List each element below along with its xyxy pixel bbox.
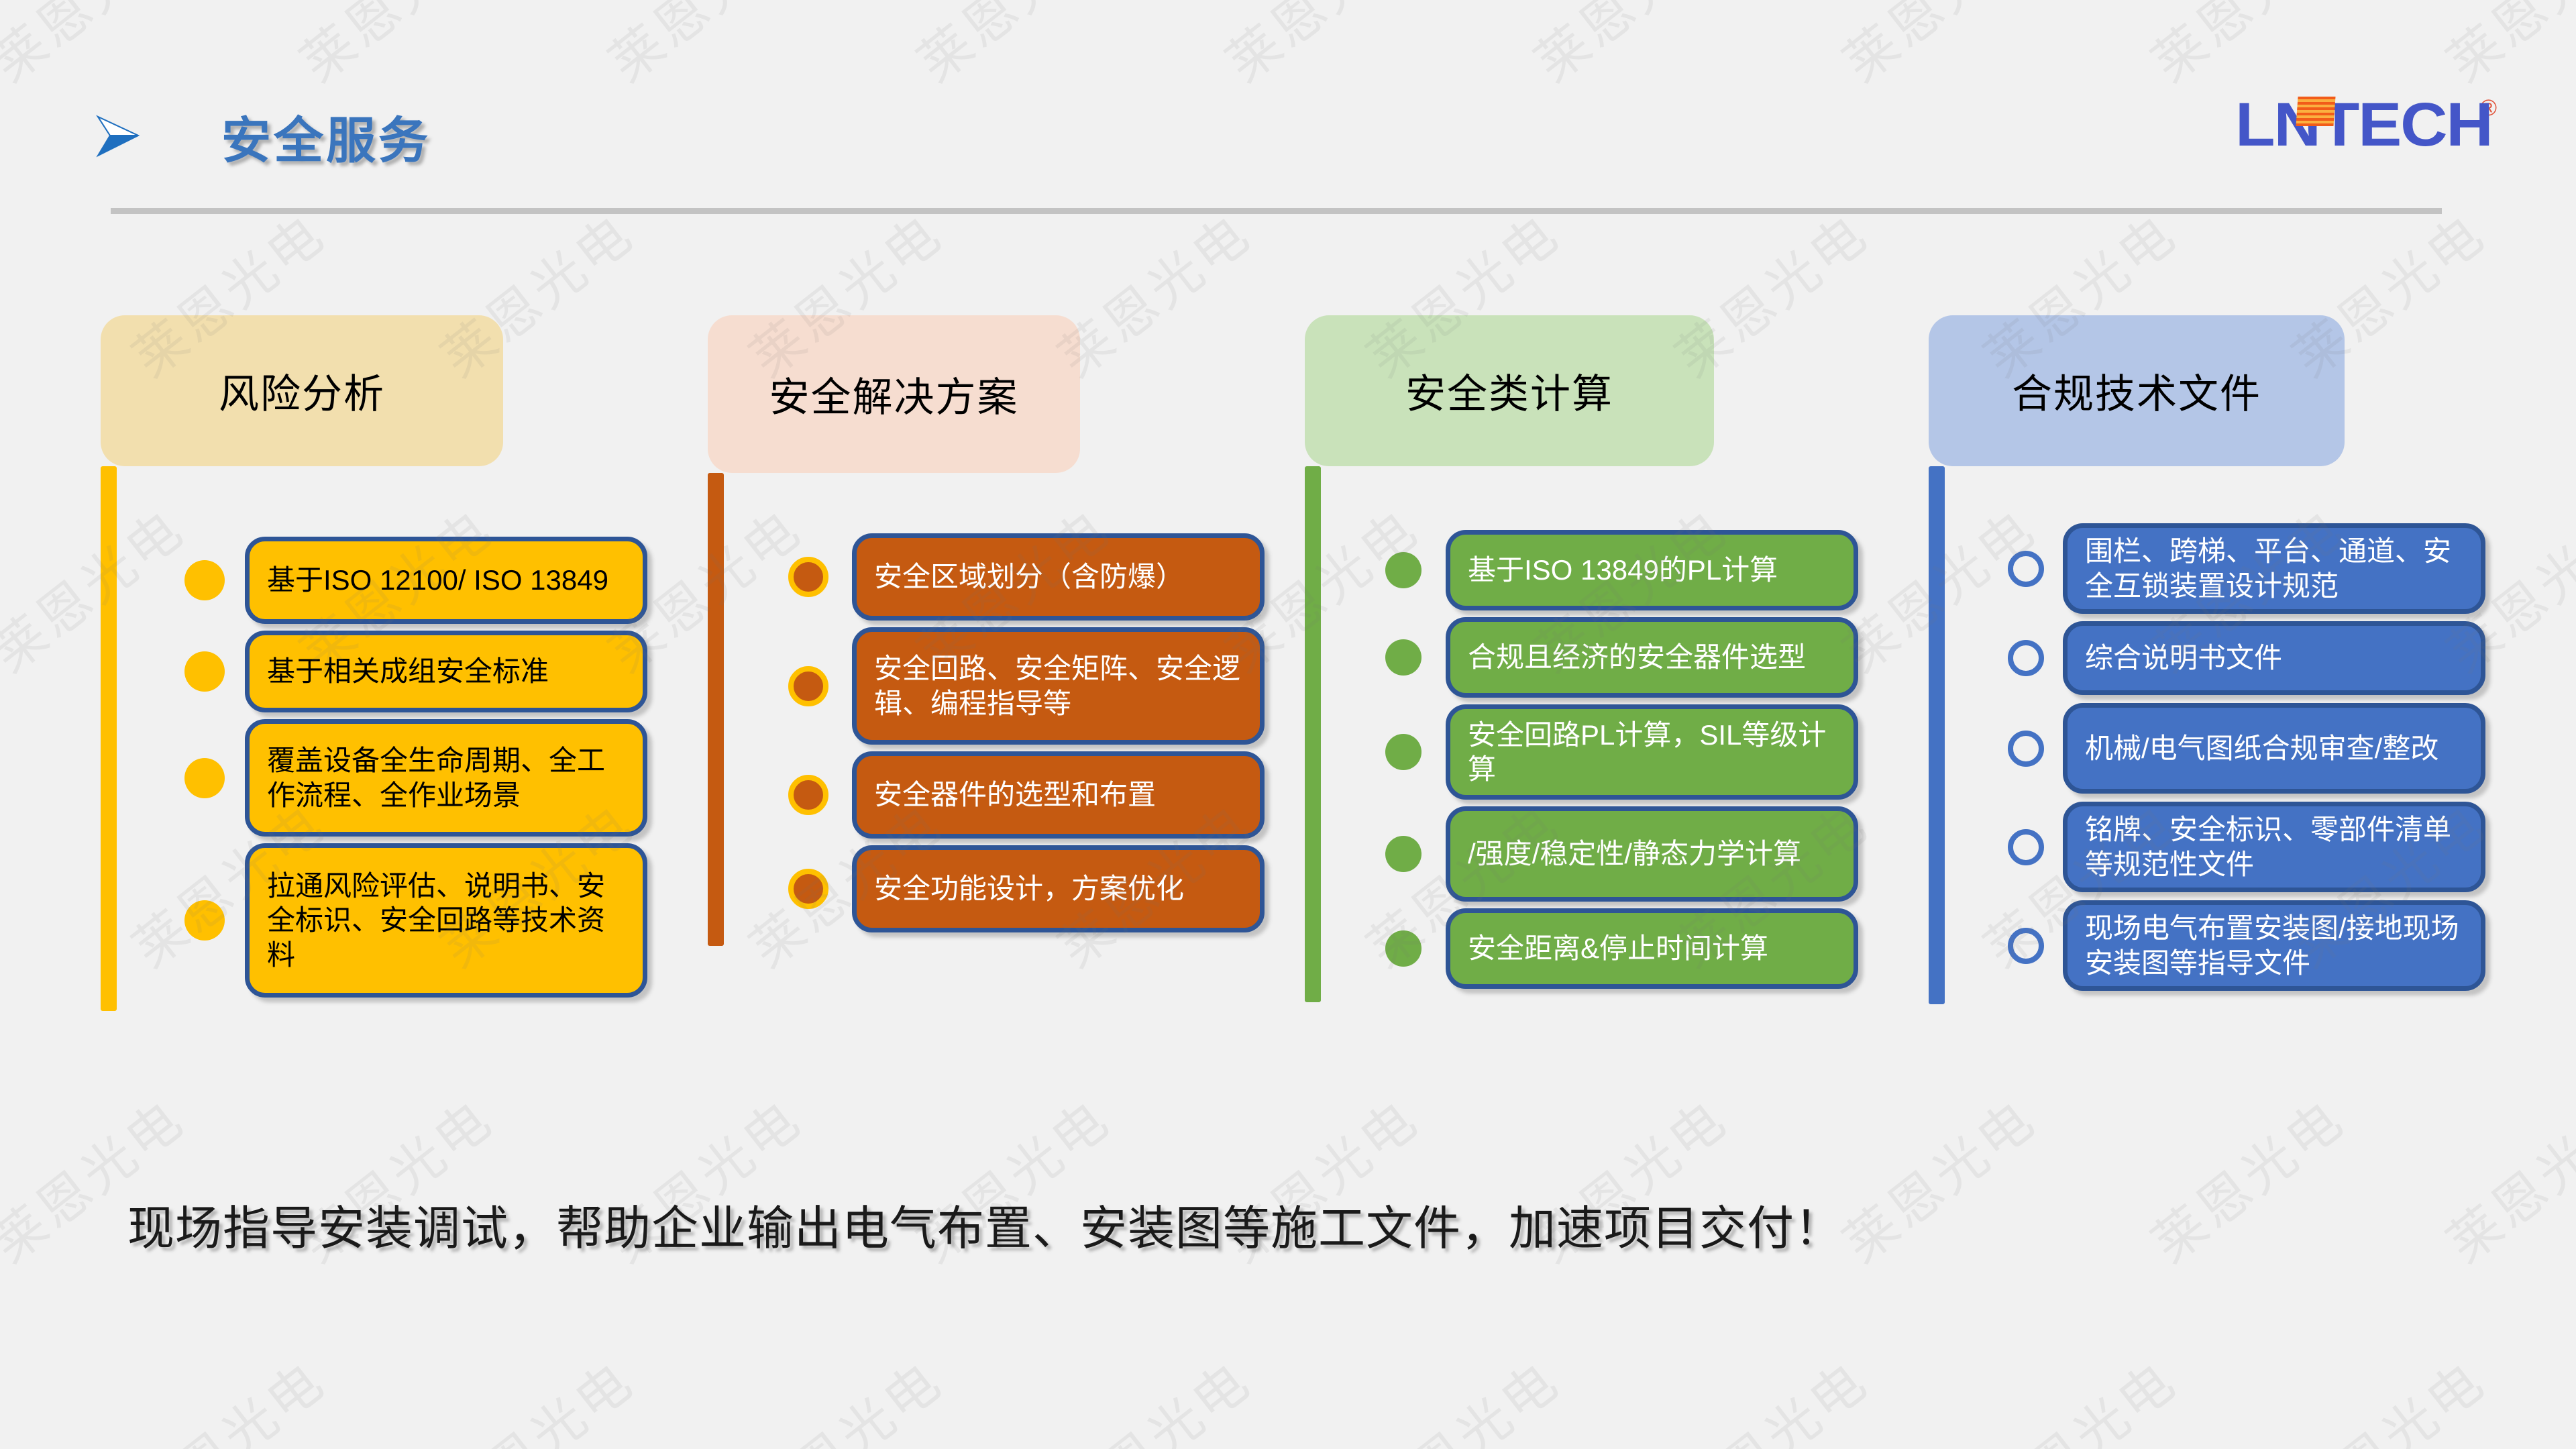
watermark-text: 莱恩光电 (2570, 1340, 2576, 1449)
list-item[interactable]: 围栏、跨梯、平台、通道、安全互锁装置设计规范 (2063, 523, 2485, 614)
brand-logo: LNTECH ® (2235, 94, 2497, 156)
watermark-text: 莱恩光电 (115, 1340, 339, 1449)
bullet-marker (788, 775, 828, 815)
bullet-marker (1385, 734, 1421, 770)
bullet-marker (2008, 640, 2044, 676)
watermark-text: 莱恩光电 (2134, 1079, 2358, 1277)
watermark-text: 莱恩光电 (282, 0, 506, 97)
watermark-text: 莱恩光电 (1658, 1340, 1882, 1449)
list-item[interactable]: 安全回路、安全矩阵、安全逻辑、编程指导等 (852, 627, 1265, 745)
bullet-marker (184, 560, 225, 600)
arrow-right-icon (95, 113, 142, 160)
logo-wordmark: LNTECH (2235, 94, 2492, 156)
list-item[interactable]: 安全功能设计，方案优化 (852, 845, 1265, 932)
page-title: 安全服务 (221, 101, 431, 172)
list-item[interactable]: 铭牌、安全标识、零部件清单等规范性文件 (2063, 802, 2485, 892)
watermark-text: 莱恩光电 (900, 0, 1124, 97)
bullet-marker (1385, 836, 1421, 872)
bullet-marker (2008, 928, 2044, 964)
watermark-text: 莱恩光电 (2570, 784, 2576, 981)
column-spine-safety-solution (708, 473, 724, 946)
slide-canvas: 莱恩光电莱恩光电莱恩光电莱恩光电莱恩光电莱恩光电莱恩光电莱恩光电莱恩光电莱恩光电… (0, 0, 2576, 1449)
bullet-marker (184, 758, 225, 798)
list-item[interactable]: 合规且经济的安全器件选型 (1446, 617, 1858, 698)
list-item[interactable]: 基于相关成组安全标准 (245, 631, 647, 712)
watermark-text: 莱恩光电 (1208, 0, 1432, 97)
bullet-marker (2008, 551, 2044, 587)
watermark-text: 莱恩光电 (591, 0, 815, 97)
list-item[interactable]: 安全器件的选型和布置 (852, 751, 1265, 839)
bullet-marker (2008, 731, 2044, 767)
list-item[interactable]: 基于ISO 13849的PL计算 (1446, 530, 1858, 610)
bullet-marker (2008, 829, 2044, 865)
watermark-text: 莱恩光电 (0, 0, 198, 97)
list-item[interactable]: /强度/稳定性/静态力学计算 (1446, 806, 1858, 902)
list-item[interactable]: 现场电气布置安装图/接地现场安装图等指导文件 (2063, 900, 2485, 991)
watermark-text: 莱恩光电 (2275, 1340, 2499, 1449)
column-header-compliance-documents[interactable]: 合规技术文件 (1929, 315, 2345, 466)
watermark-text: 莱恩光电 (2429, 0, 2576, 97)
watermark-text: 莱恩光电 (1349, 1340, 1573, 1449)
column-header-risk-analysis[interactable]: 风险分析 (101, 315, 503, 466)
watermark-text: 莱恩光电 (1966, 1340, 2190, 1449)
watermark-text: 莱恩光电 (0, 488, 198, 686)
list-item[interactable]: 机械/电气图纸合规审查/整改 (2063, 703, 2485, 794)
column-header-safety-calculation[interactable]: 安全类计算 (1305, 315, 1714, 466)
column-header-safety-solution[interactable]: 安全解决方案 (708, 315, 1080, 473)
list-item[interactable]: 安全距离&停止时间计算 (1446, 908, 1858, 989)
list-item[interactable]: 综合说明书文件 (2063, 621, 2485, 695)
watermark-text: 莱恩光电 (1825, 0, 2049, 97)
bullet-marker (1385, 639, 1421, 676)
watermark-text: 莱恩光电 (1825, 1079, 2049, 1277)
header-divider (111, 208, 2442, 214)
watermark-text: 莱恩光电 (423, 1340, 647, 1449)
watermark-text: 莱恩光电 (2570, 193, 2576, 391)
column-spine-compliance-documents (1929, 466, 1945, 1004)
watermark-text: 莱恩光电 (1517, 0, 1741, 97)
watermark-text: 莱恩光电 (1040, 1340, 1265, 1449)
column-spine-risk-analysis (101, 466, 117, 1011)
bullet-marker (788, 557, 828, 597)
list-item[interactable]: 覆盖设备全生命周期、全工作流程、全作业场景 (245, 719, 647, 837)
watermark-text: 莱恩光电 (732, 1340, 956, 1449)
bullet-marker (788, 666, 828, 706)
watermark-text: 莱恩光电 (2134, 0, 2358, 97)
list-item[interactable]: 安全回路PL计算，SIL等级计算 (1446, 704, 1858, 800)
bullet-marker (184, 651, 225, 692)
footer-note: 现场指导安装调试，帮助企业输出电气布置、安装图等施工文件，加速项目交付！ (127, 1191, 1842, 1258)
bullet-marker (788, 869, 828, 909)
list-item[interactable]: 基于ISO 12100/ ISO 13849 (245, 537, 647, 624)
bullet-marker (1385, 930, 1421, 967)
bullet-marker (184, 900, 225, 941)
column-spine-safety-calculation (1305, 466, 1321, 1002)
watermark-text: 莱恩光电 (2429, 1079, 2576, 1277)
bullet-marker (1385, 552, 1421, 588)
list-item[interactable]: 拉通风险评估、说明书、安全标识、安全回路等技术资料 (245, 843, 647, 998)
list-item[interactable]: 安全区域划分（含防爆） (852, 533, 1265, 621)
